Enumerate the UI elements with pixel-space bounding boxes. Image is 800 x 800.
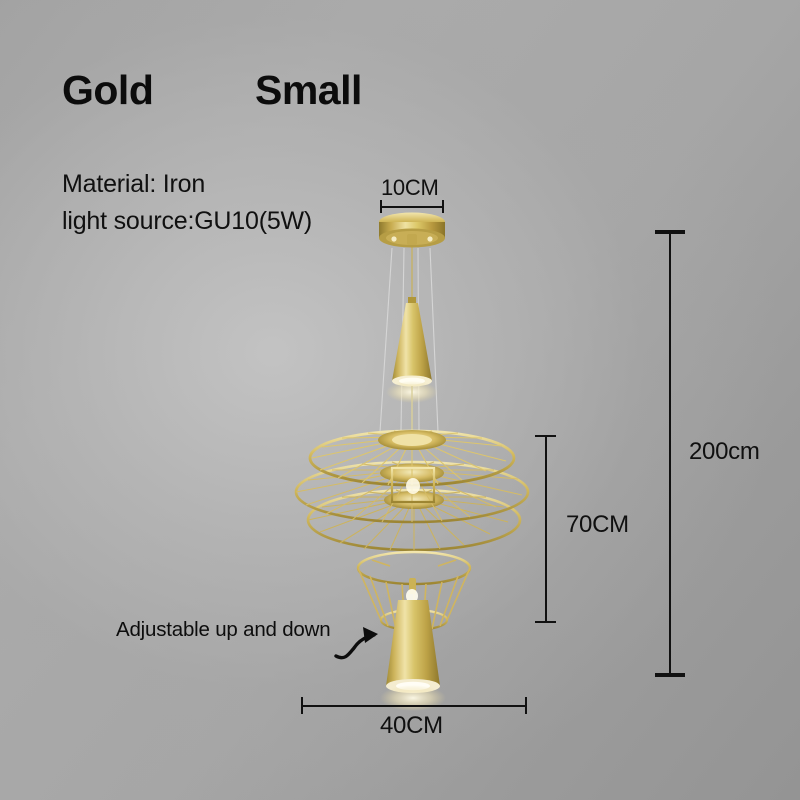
wire-disc-top [310,430,514,485]
pendant-lamp-illustration [0,0,800,800]
upper-cone-pendant [386,297,438,432]
ceiling-canopy [379,213,445,248]
spec-light-source: light source:GU10(5W) [62,207,312,236]
dimension-line-width [301,705,527,707]
wire-disc-lower [308,490,520,550]
page-title-size: Small [255,67,362,114]
dimension-line-height [545,435,547,623]
dimension-tick-height-top [535,435,556,437]
dimension-tick-height-bottom [535,621,556,623]
dimension-tick-canopy-left [380,200,382,213]
dimension-tick-drop-bottom [655,673,685,677]
product-spec-image: Gold Small Material: Iron light source:G… [0,0,800,800]
dimension-line-canopy [380,206,444,208]
page-title-color: Gold [62,67,153,114]
dimension-label-canopy: 10CM [381,175,439,201]
dimension-label-width: 40CM [380,712,443,740]
dimension-tick-drop-top [655,230,685,234]
dimension-tick-width-left [301,697,303,714]
dimension-label-height: 70CM [566,511,629,539]
dimension-label-drop: 200cm [689,438,760,466]
spec-material: Material: Iron [62,170,205,199]
curved-arrow-icon [333,620,395,666]
dimension-tick-width-right [525,697,527,714]
adjustable-note: Adjustable up and down [116,618,330,642]
dimension-tick-canopy-right [442,200,444,213]
dimension-line-drop [669,230,671,677]
